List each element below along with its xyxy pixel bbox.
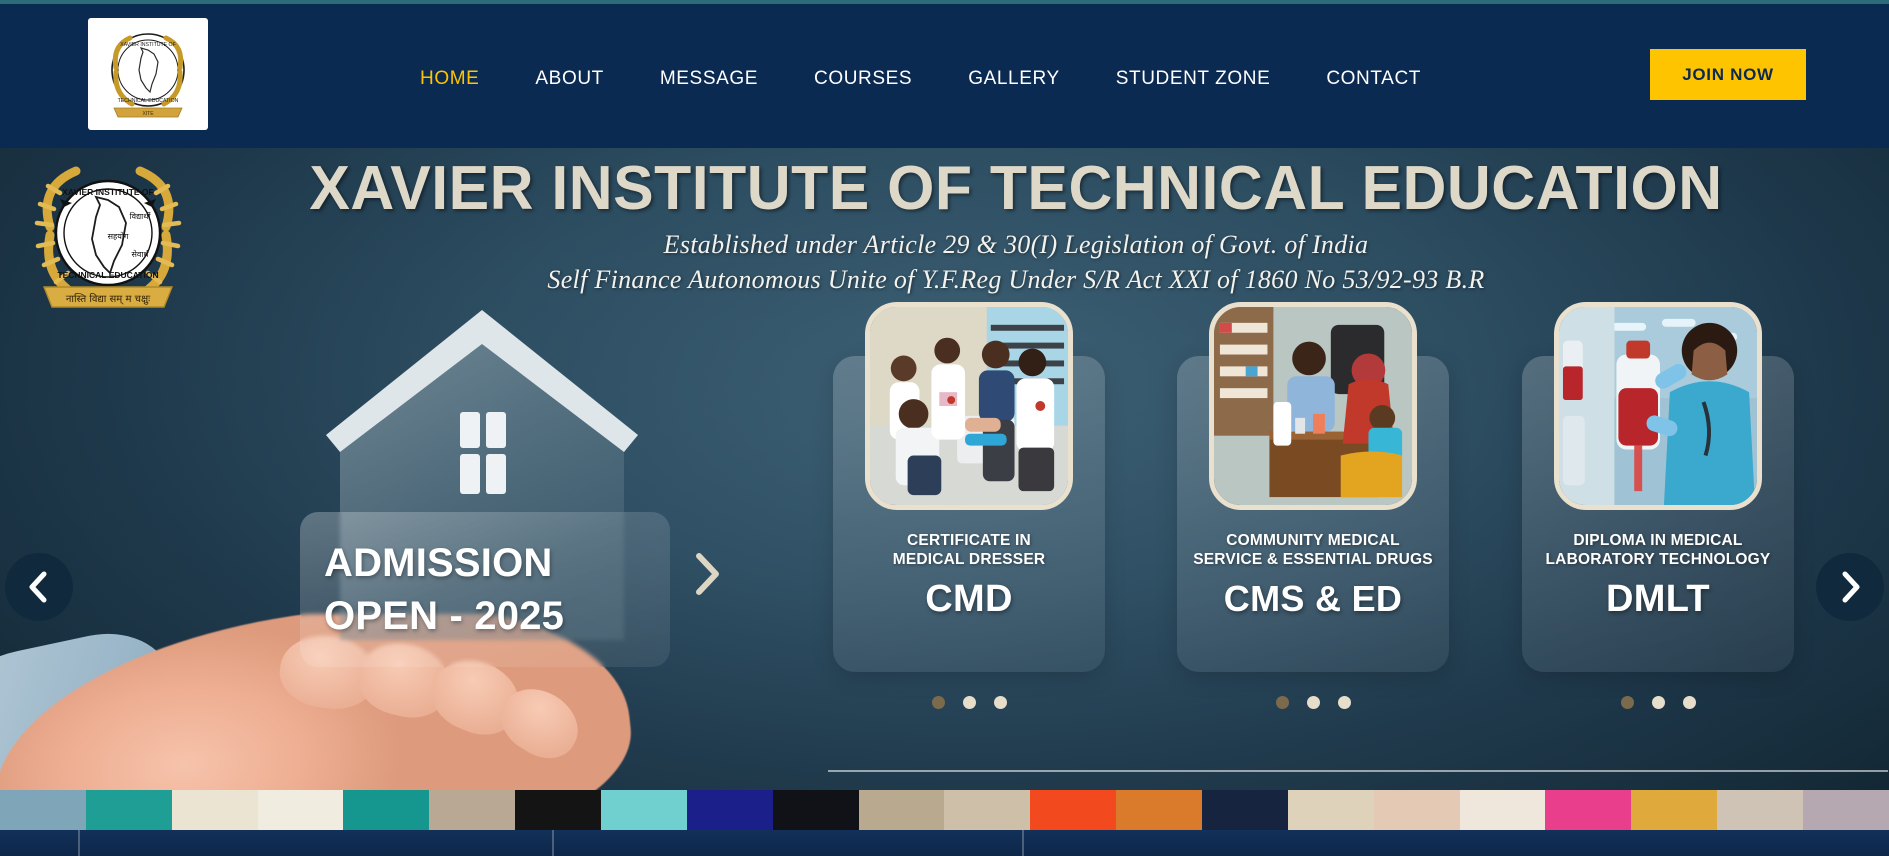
course-card-cmd[interactable]: CERTIFICATE IN MEDICAL DRESSER CMD (833, 356, 1105, 672)
admission-card[interactable]: ADMISSION OPEN - 2025 (282, 300, 692, 740)
footer-band (0, 830, 1889, 856)
section-divider (828, 770, 1888, 772)
rural-pharmacy-scene-illustration (1214, 307, 1412, 505)
course-subtitle-line-1: CERTIFICATE IN (841, 532, 1097, 551)
carousel-dot[interactable] (1338, 696, 1351, 709)
hero-subtitle-1: Established under Article 29 & 30(I) Leg… (196, 230, 1836, 260)
course-subtitle-line-2: SERVICE & ESSENTIAL DRUGS (1185, 551, 1441, 570)
svg-text:TECHNICAL EDUCATION: TECHNICAL EDUCATION (118, 98, 179, 104)
chevron-right-icon (1837, 570, 1863, 604)
course-subtitle-line-1: COMMUNITY MEDICAL (1185, 532, 1441, 551)
carousel-next-button[interactable] (1816, 553, 1884, 621)
course-photo-cms-ed (1209, 302, 1417, 510)
carousel-dot[interactable] (932, 696, 945, 709)
course-carousel-dots-dmlt (1522, 696, 1794, 709)
hero-section: XAVIER INSTITUTE OF TECHNICAL EDUCATION … (0, 148, 1889, 856)
hero-title: XAVIER INSTITUTE OF TECHNICAL EDUCATION (212, 156, 1819, 223)
course-abbreviation: CMS & ED (1185, 578, 1441, 620)
main-navigation: HOME ABOUT MESSAGE COURSES GALLERY STUDE… (420, 62, 1477, 96)
nav-item-home[interactable]: HOME (420, 62, 479, 96)
top-accent-line (0, 0, 1889, 4)
nav-item-contact[interactable]: CONTACT (1326, 62, 1421, 96)
carousel-dot[interactable] (1652, 696, 1665, 709)
course-carousel-dots-cmd (833, 696, 1105, 709)
carousel-dot[interactable] (963, 696, 976, 709)
carousel-dot[interactable] (1307, 696, 1320, 709)
nav-item-gallery[interactable]: GALLERY (968, 62, 1060, 96)
seal-ring-top-text: XAVIER INSTITUTE OF (62, 187, 153, 197)
footer-separator (552, 830, 554, 856)
course-carousel-dots-cms-ed (1177, 696, 1449, 709)
join-now-button[interactable]: JOIN NOW (1650, 49, 1806, 100)
carousel-dot[interactable] (994, 696, 1007, 709)
course-text-dmlt: DIPLOMA IN MEDICAL LABORATORY TECHNOLOGY… (1522, 532, 1794, 621)
course-abbreviation: CMD (841, 578, 1097, 621)
seal-inner-text-1: विद्यार्थी (130, 211, 152, 221)
seal-inner-text-2: सहयोग (108, 231, 129, 241)
carousel-prev-button[interactable] (5, 553, 73, 621)
nav-item-courses[interactable]: COURSES (814, 62, 912, 96)
seal-ring-bottom-text: TECHNICAL EDUCATION (57, 270, 158, 280)
nav-item-message[interactable]: MESSAGE (660, 62, 758, 96)
course-text-cmd: CERTIFICATE IN MEDICAL DRESSER CMD (833, 532, 1105, 621)
course-subtitle-line-2: MEDICAL DRESSER (841, 551, 1097, 570)
clinic-scene-illustration (870, 307, 1068, 505)
nav-item-about[interactable]: ABOUT (535, 62, 603, 96)
institute-seal-icon: XAVIER INSTITUTE OF TECHNICAL EDUCATION … (96, 22, 200, 126)
course-photo-dmlt (1554, 302, 1762, 510)
laboratory-scene-illustration (1559, 307, 1757, 505)
nav-item-student-zone[interactable]: STUDENT ZONE (1116, 62, 1271, 96)
course-subtitle-line-2: LABORATORY TECHNOLOGY (1530, 551, 1786, 570)
admission-next-chevron-icon[interactable] (690, 548, 724, 600)
page-root: XAVIER INSTITUTE OF TECHNICAL EDUCATION … (0, 0, 1889, 856)
brand-logo[interactable]: XAVIER INSTITUTE OF TECHNICAL EDUCATION … (88, 18, 208, 130)
hero-cards-row: ADMISSION OPEN - 2025 (0, 300, 1889, 760)
chevron-left-icon (26, 570, 52, 604)
admission-line-2: OPEN - 2025 (324, 590, 564, 643)
admission-line-1: ADMISSION (324, 537, 552, 590)
footer-separator (78, 830, 80, 856)
svg-text:XAVIER INSTITUTE OF: XAVIER INSTITUTE OF (120, 42, 176, 48)
carousel-dot[interactable] (1276, 696, 1289, 709)
footer-separator (1022, 830, 1024, 856)
admission-text-plate: ADMISSION OPEN - 2025 (300, 512, 670, 667)
course-card-cms-ed[interactable]: COMMUNITY MEDICAL SERVICE & ESSENTIAL DR… (1177, 356, 1449, 672)
course-abbreviation: DMLT (1530, 578, 1786, 621)
hero-subtitle-2: Self Finance Autonomous Unite of Y.F.Reg… (196, 265, 1836, 295)
course-photo-cmd (865, 302, 1073, 510)
carousel-dot[interactable] (1621, 696, 1634, 709)
svg-text:XITE: XITE (142, 111, 154, 117)
course-card-dmlt[interactable]: DIPLOMA IN MEDICAL LABORATORY TECHNOLOGY… (1522, 356, 1794, 672)
seal-inner-text-3: सेवार्थ (131, 249, 149, 259)
course-text-cms-ed: COMMUNITY MEDICAL SERVICE & ESSENTIAL DR… (1177, 532, 1449, 620)
top-navigation-bar: XAVIER INSTITUTE OF TECHNICAL EDUCATION … (0, 0, 1889, 148)
course-subtitle-line-1: DIPLOMA IN MEDICAL (1530, 532, 1786, 551)
carousel-dot[interactable] (1683, 696, 1696, 709)
